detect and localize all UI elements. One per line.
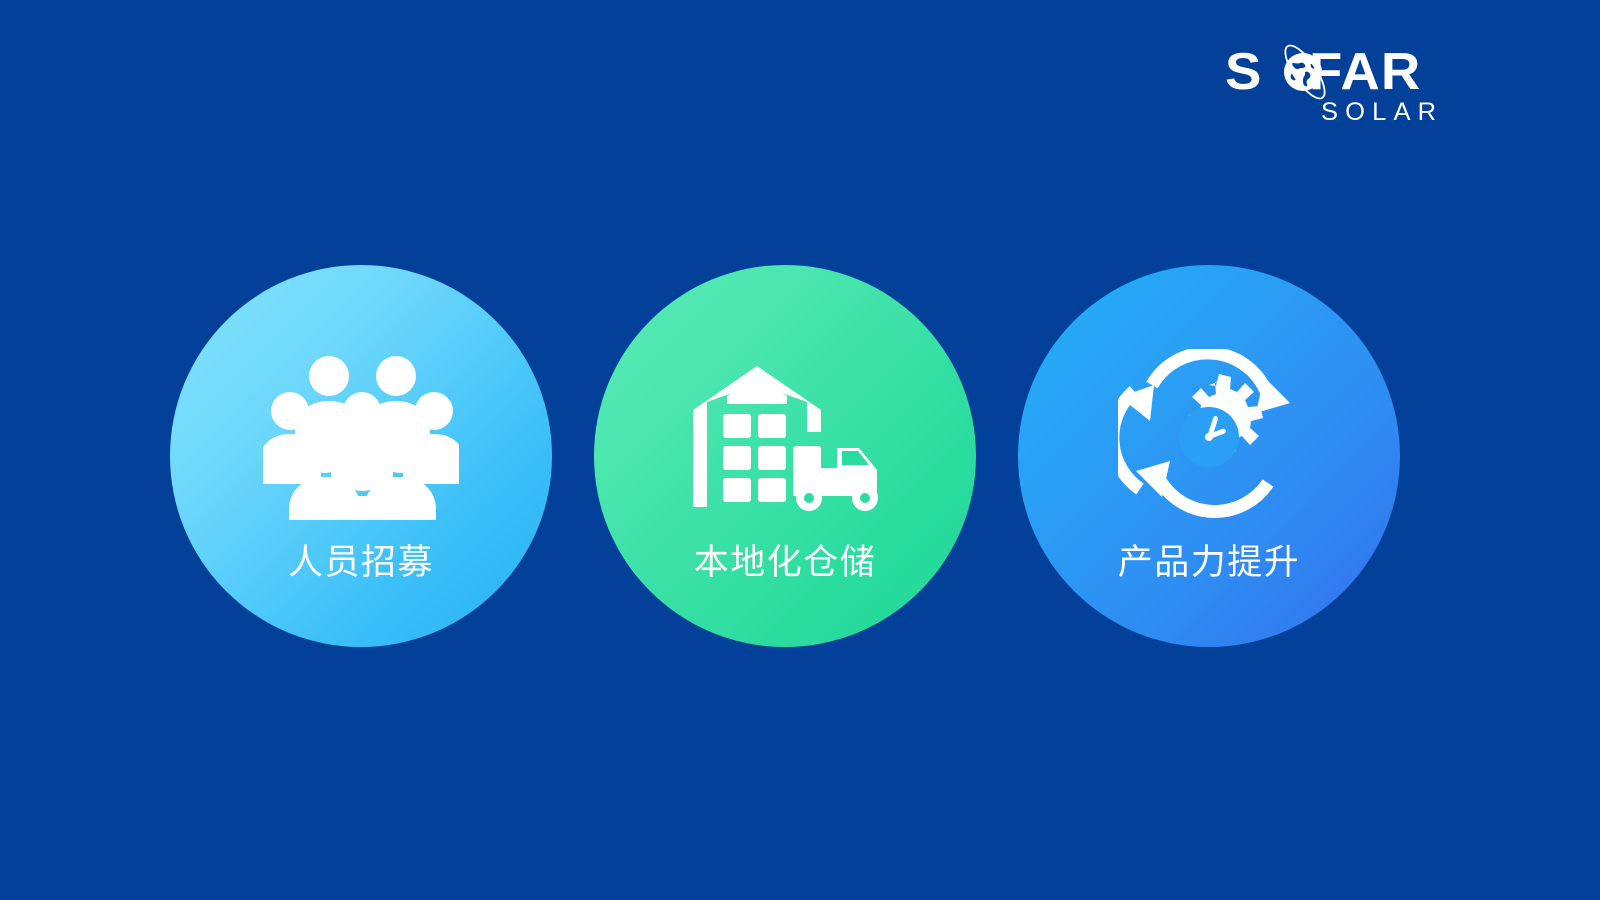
slide-canvas: S FAR SOLAR xyxy=(0,0,1600,900)
feature-circle-label: 产品力提升 xyxy=(1118,543,1301,583)
feature-circle-label: 本地化仓储 xyxy=(694,543,877,583)
logo-subtitle: SOLAR xyxy=(1321,100,1443,125)
people-group-icon xyxy=(261,353,461,521)
feature-circle-product-capability[interactable]: 产品力提升 xyxy=(1018,265,1400,647)
feature-circle-recruitment[interactable]: 人员招募 xyxy=(170,265,552,647)
feature-circle-warehousing[interactable]: 本地化仓储 xyxy=(594,265,976,647)
sofar-solar-logo: S FAR SOLAR xyxy=(1225,44,1470,130)
feature-circle-row: 人员招募 xyxy=(170,265,1400,650)
feature-circle-label: 人员招募 xyxy=(288,543,434,583)
logo-letter-s: S xyxy=(1225,46,1262,98)
gear-clock-cycle-icon xyxy=(1109,353,1309,521)
warehouse-truck-icon xyxy=(685,353,885,521)
logo-wordmark: S FAR xyxy=(1225,44,1470,100)
